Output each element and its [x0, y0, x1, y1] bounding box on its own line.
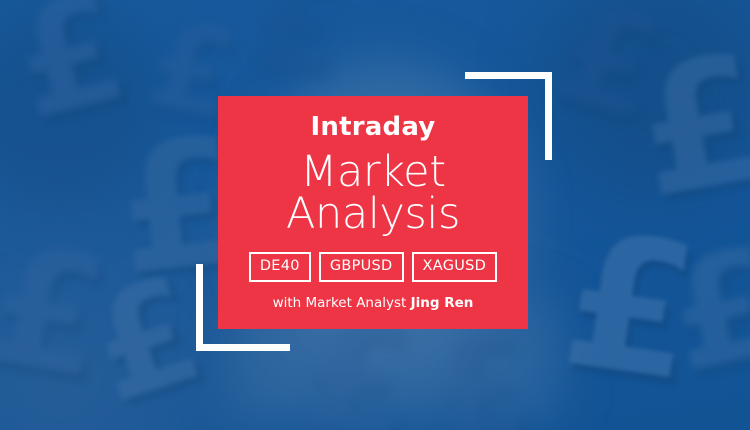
page-title: Market Analysis [286, 151, 460, 235]
byline: with Market Analyst Jing Ren [273, 297, 474, 311]
instrument-badge[interactable]: GBPUSD [319, 252, 404, 282]
pound-sterling-icon: £ [1, 0, 139, 142]
pound-sterling-icon: £ [0, 221, 118, 403]
instrument-badge[interactable]: XAGUSD [412, 252, 498, 282]
background-blob-left [0, 10, 160, 210]
instrument-badge-row: DE40GBPUSDXAGUSD [249, 252, 497, 282]
title-card: Intraday Market Analysis DE40GBPUSDXAGUS… [218, 96, 528, 329]
pound-sterling-icon: £ [554, 207, 707, 408]
instrument-badge[interactable]: DE40 [249, 252, 311, 282]
byline-prefix: with Market Analyst [273, 295, 411, 311]
page-title-line-2: Analysis [286, 193, 460, 235]
market-analysis-banner: ££££££££££££ Intraday Market Analysis DE… [0, 0, 750, 430]
page-title-line-1: Market [286, 151, 460, 193]
pound-sterling-icon: £ [543, 0, 675, 143]
card-kicker: Intraday [311, 114, 436, 140]
byline-analyst-name: Jing Ren [411, 295, 474, 311]
pound-sterling-icon: £ [421, 314, 537, 430]
background-blob-top-right [540, 0, 750, 200]
pound-sterling-icon: £ [246, 0, 345, 93]
pound-sterling-icon: £ [658, 227, 750, 395]
pound-sterling-icon: £ [626, 31, 750, 224]
